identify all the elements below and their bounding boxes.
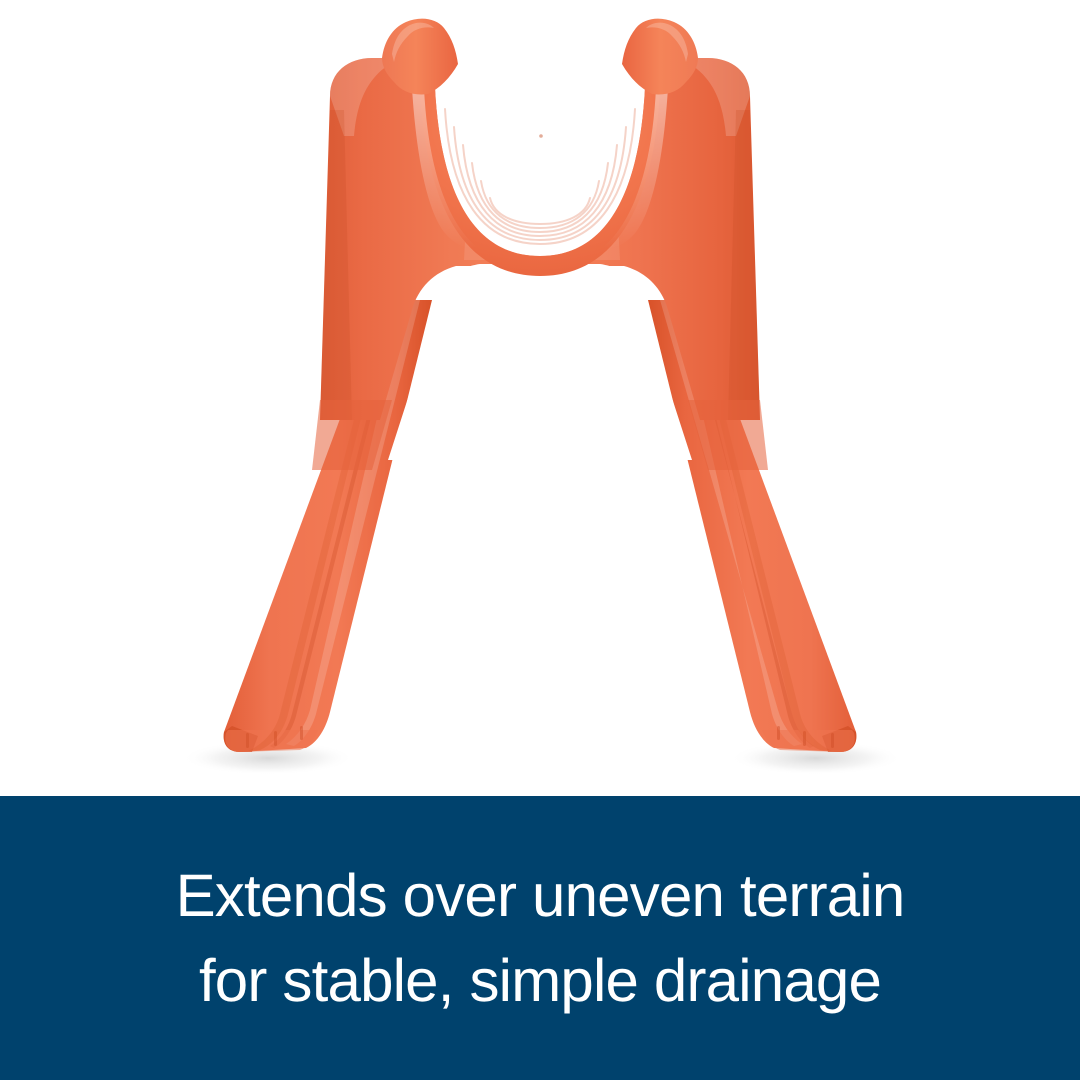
caption-banner: Extends over uneven terrain for stable, … bbox=[0, 796, 1080, 1080]
product-illustration bbox=[0, 0, 1080, 796]
caption-line-1: Extends over uneven terrain bbox=[176, 853, 905, 938]
center-arch-opening bbox=[388, 264, 692, 460]
product-photo bbox=[0, 0, 1080, 796]
caption-line-2: for stable, simple drainage bbox=[199, 938, 881, 1023]
cradle-mold-pip bbox=[539, 134, 543, 138]
product-feature-card: Extends over uneven terrain for stable, … bbox=[0, 0, 1080, 1080]
